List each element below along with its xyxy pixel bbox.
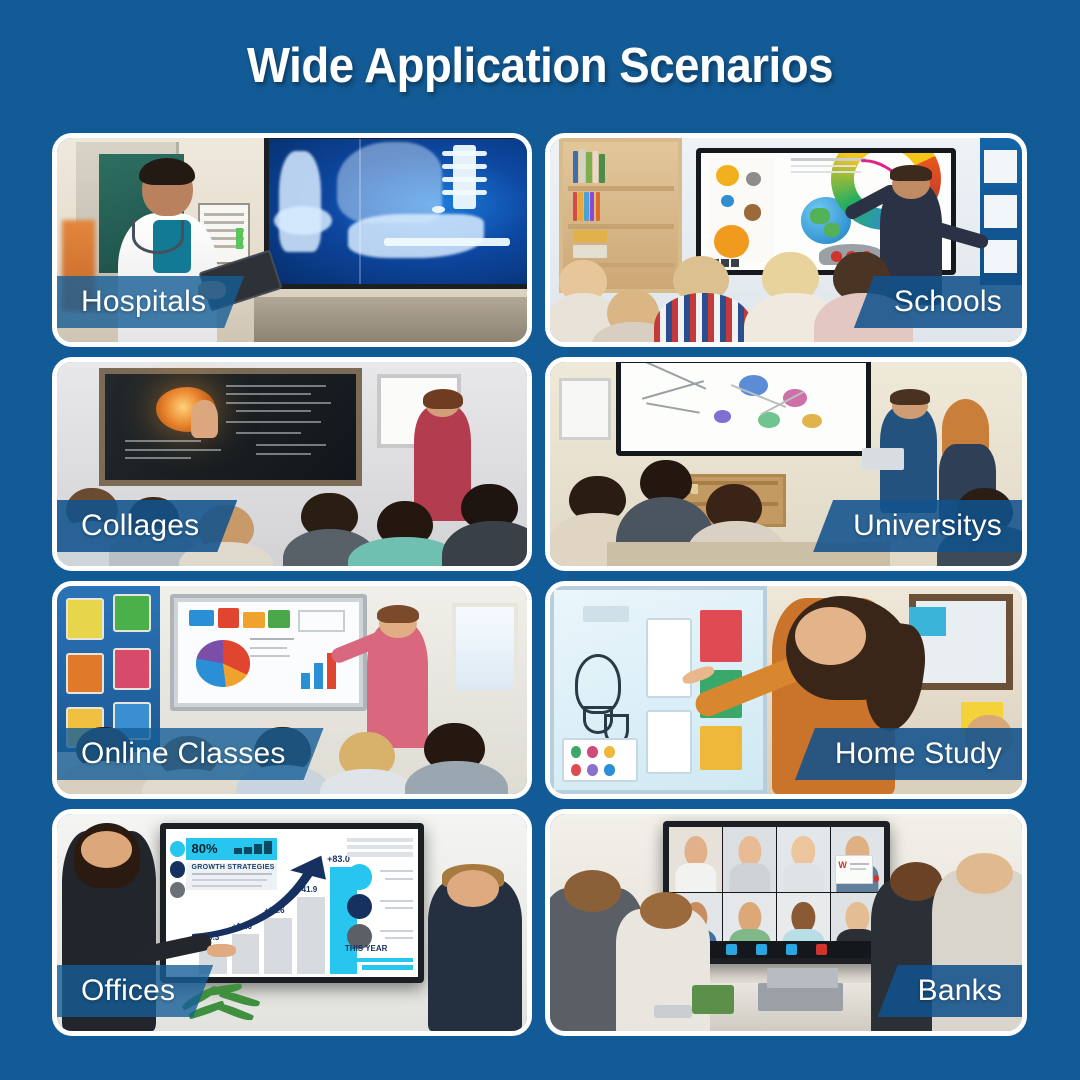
participant-tile: W [831, 827, 884, 892]
card-label-banks: Banks [878, 965, 1027, 1017]
page-title: Wide Application Scenarios [38, 38, 1042, 94]
scenario-card-hospitals[interactable]: Hospitals [52, 133, 532, 347]
speaker-icon[interactable] [756, 944, 767, 955]
scenario-grid: Hospitals [52, 133, 1027, 1036]
poster: Wide Application Scenarios [0, 0, 1080, 1080]
scenario-card-schools[interactable]: Schools [545, 133, 1027, 347]
card-label-hospitals: Hospitals [52, 276, 244, 328]
camera-icon[interactable] [786, 944, 797, 955]
display-board-college [99, 368, 362, 486]
card-label-collages: Collages [52, 500, 237, 552]
scenario-card-online-classes[interactable]: Online Classes [52, 581, 532, 799]
xray-display [264, 138, 527, 289]
record-icon[interactable] [816, 944, 827, 955]
scenario-card-home-study[interactable]: Home Study [545, 581, 1027, 799]
business-dashboard-display: 80% GROWTH STRATEGIES [160, 823, 423, 984]
scenario-card-banks[interactable]: W [545, 809, 1027, 1036]
participant-tile [723, 827, 776, 892]
scenario-card-offices[interactable]: 80% GROWTH STRATEGIES [52, 809, 532, 1036]
card-label-home-study: Home Study [795, 728, 1027, 780]
interactive-display-university [616, 362, 871, 456]
participant-tile [669, 827, 722, 892]
card-label-online-classes: Online Classes [52, 728, 324, 780]
card-label-schools: Schools [854, 276, 1027, 328]
card-label-universitys: Universitys [813, 500, 1027, 552]
dashboard-footer-label: THIS YEAR [345, 944, 388, 953]
participant-tile [777, 827, 830, 892]
mic-icon[interactable] [726, 944, 737, 955]
scenario-card-universitys[interactable]: Universitys [545, 357, 1027, 571]
whiteboard-logo-text: W [838, 860, 847, 870]
card-label-offices: Offices [52, 965, 213, 1017]
growth-arrow-icon [192, 852, 348, 944]
scenario-card-collages[interactable]: Collages [52, 357, 532, 571]
